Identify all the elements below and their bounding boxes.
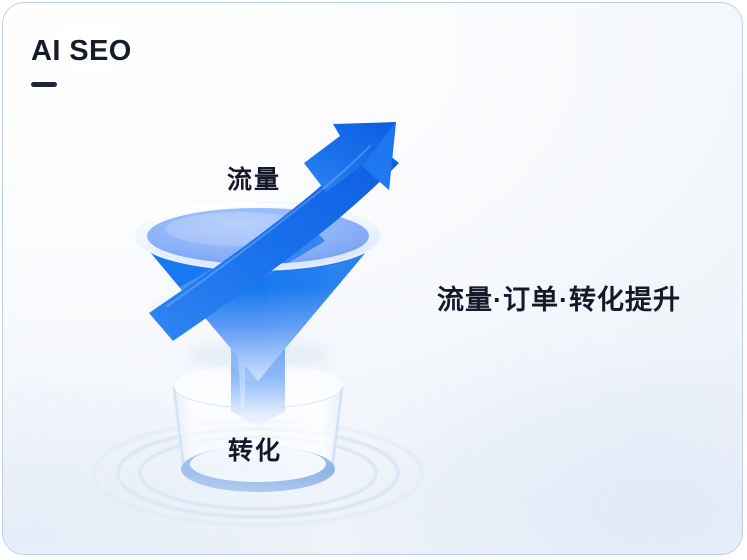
page-title: AI SEO [31,37,132,66]
label-traffic: 流量 [227,160,281,196]
illustration-card: 流量 转化 AI SEO 流量·订单·转化提升 [2,2,743,555]
label-conversion: 转化 [228,431,282,467]
tagline-text: 流量·订单·转化提升 [437,278,681,317]
header: AI SEO [31,37,132,87]
title-underline-rule [31,82,57,87]
